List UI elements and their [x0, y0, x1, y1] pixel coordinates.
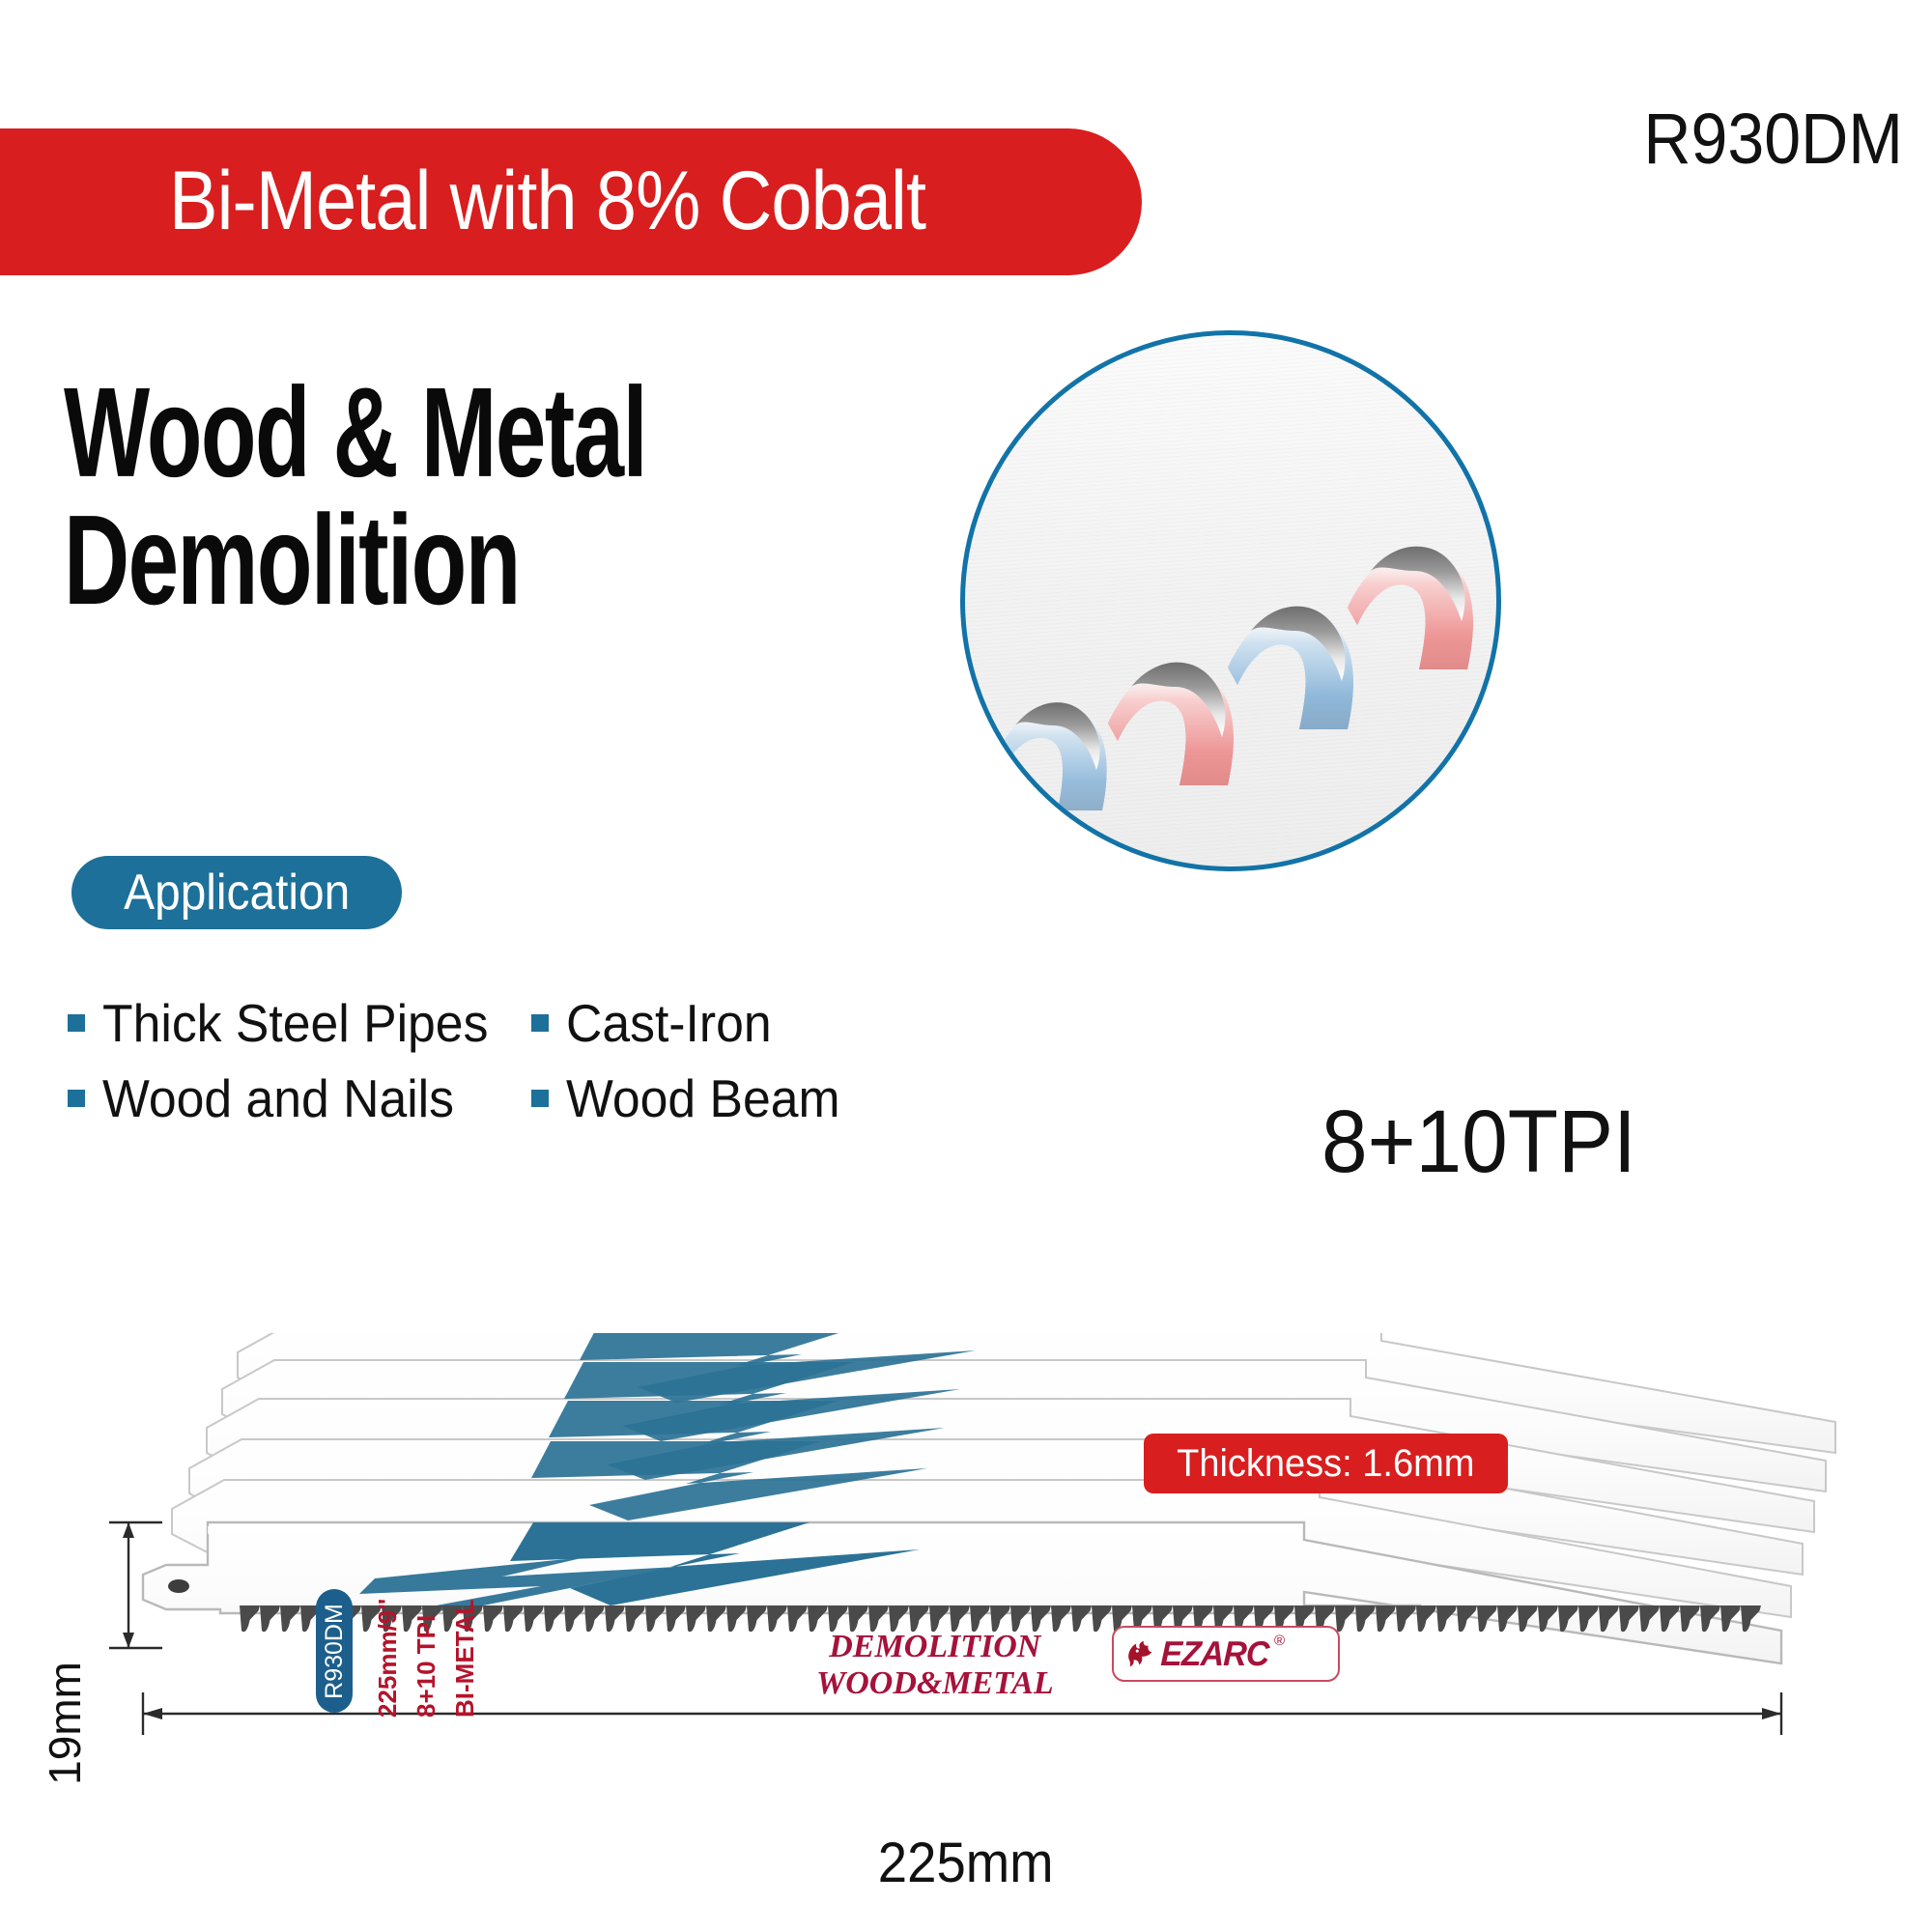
- page-title: Wood & Metal Demolition: [64, 369, 806, 624]
- tooth-profile-graphic: [965, 335, 1498, 868]
- blade-spec-length: 225mm/9": [375, 1598, 400, 1718]
- application-item-label: Thick Steel Pipes: [102, 994, 488, 1052]
- list-item: Wood Beam: [531, 1069, 927, 1127]
- application-pill: Application: [71, 856, 402, 929]
- ezarc-logo: EZARC ®: [1112, 1626, 1340, 1682]
- blade-width-dimension-label: 225mm: [0, 1835, 1932, 1891]
- beast-head-icon: [1123, 1635, 1160, 1672]
- registered-trademark-icon: ®: [1274, 1634, 1285, 1648]
- tooth-detail-circle: [960, 330, 1501, 871]
- product-infographic: Bi-Metal with 8% Cobalt R930DM Wood & Me…: [0, 0, 1932, 1932]
- square-bullet-icon: [531, 1090, 549, 1107]
- application-pill-label: Application: [124, 867, 350, 918]
- thickness-badge: Thickness: 1.6mm: [1144, 1434, 1508, 1493]
- thickness-badge-label: Thickness: 1.6mm: [1177, 1444, 1474, 1483]
- page-title-line-2: Demolition: [64, 497, 806, 624]
- blade-code-pill: R930DM: [316, 1589, 353, 1713]
- application-item-label: Cast-Iron: [566, 994, 772, 1052]
- application-list: Thick Steel Pipes Cast-Iron Wood and Nai…: [68, 985, 927, 1136]
- blade-height-dimension-label: 19mm: [43, 1662, 87, 1785]
- square-bullet-icon: [531, 1014, 549, 1032]
- ezarc-wordmark: EZARC: [1160, 1636, 1269, 1671]
- list-item: Wood and Nails: [68, 1069, 531, 1127]
- blade-spec-tpi: 8+10 TPI: [413, 1615, 439, 1718]
- square-bullet-icon: [68, 1014, 85, 1032]
- blade-demolition-mark: DEMOLITION WOOD&METAL: [816, 1629, 1054, 1702]
- square-bullet-icon: [68, 1090, 85, 1107]
- tpi-label: 8+10TPI: [1321, 1094, 1636, 1190]
- blade-mark-line-2: WOOD&METAL: [816, 1665, 1054, 1702]
- list-item: Thick Steel Pipes: [68, 994, 531, 1052]
- product-code: R930DM: [1643, 100, 1903, 178]
- page-title-line-1: Wood & Metal: [64, 369, 806, 497]
- list-item: Cast-Iron: [531, 994, 927, 1052]
- blade-mark-line-1: DEMOLITION: [816, 1629, 1054, 1665]
- application-item-label: Wood Beam: [566, 1069, 840, 1127]
- blade-spec-material: BI-METAL: [452, 1600, 477, 1718]
- blade-code-pill-label: R930DM: [323, 1604, 347, 1699]
- application-item-label: Wood and Nails: [102, 1069, 454, 1127]
- bimetal-banner-label: Bi-Metal with 8% Cobalt: [169, 141, 1002, 261]
